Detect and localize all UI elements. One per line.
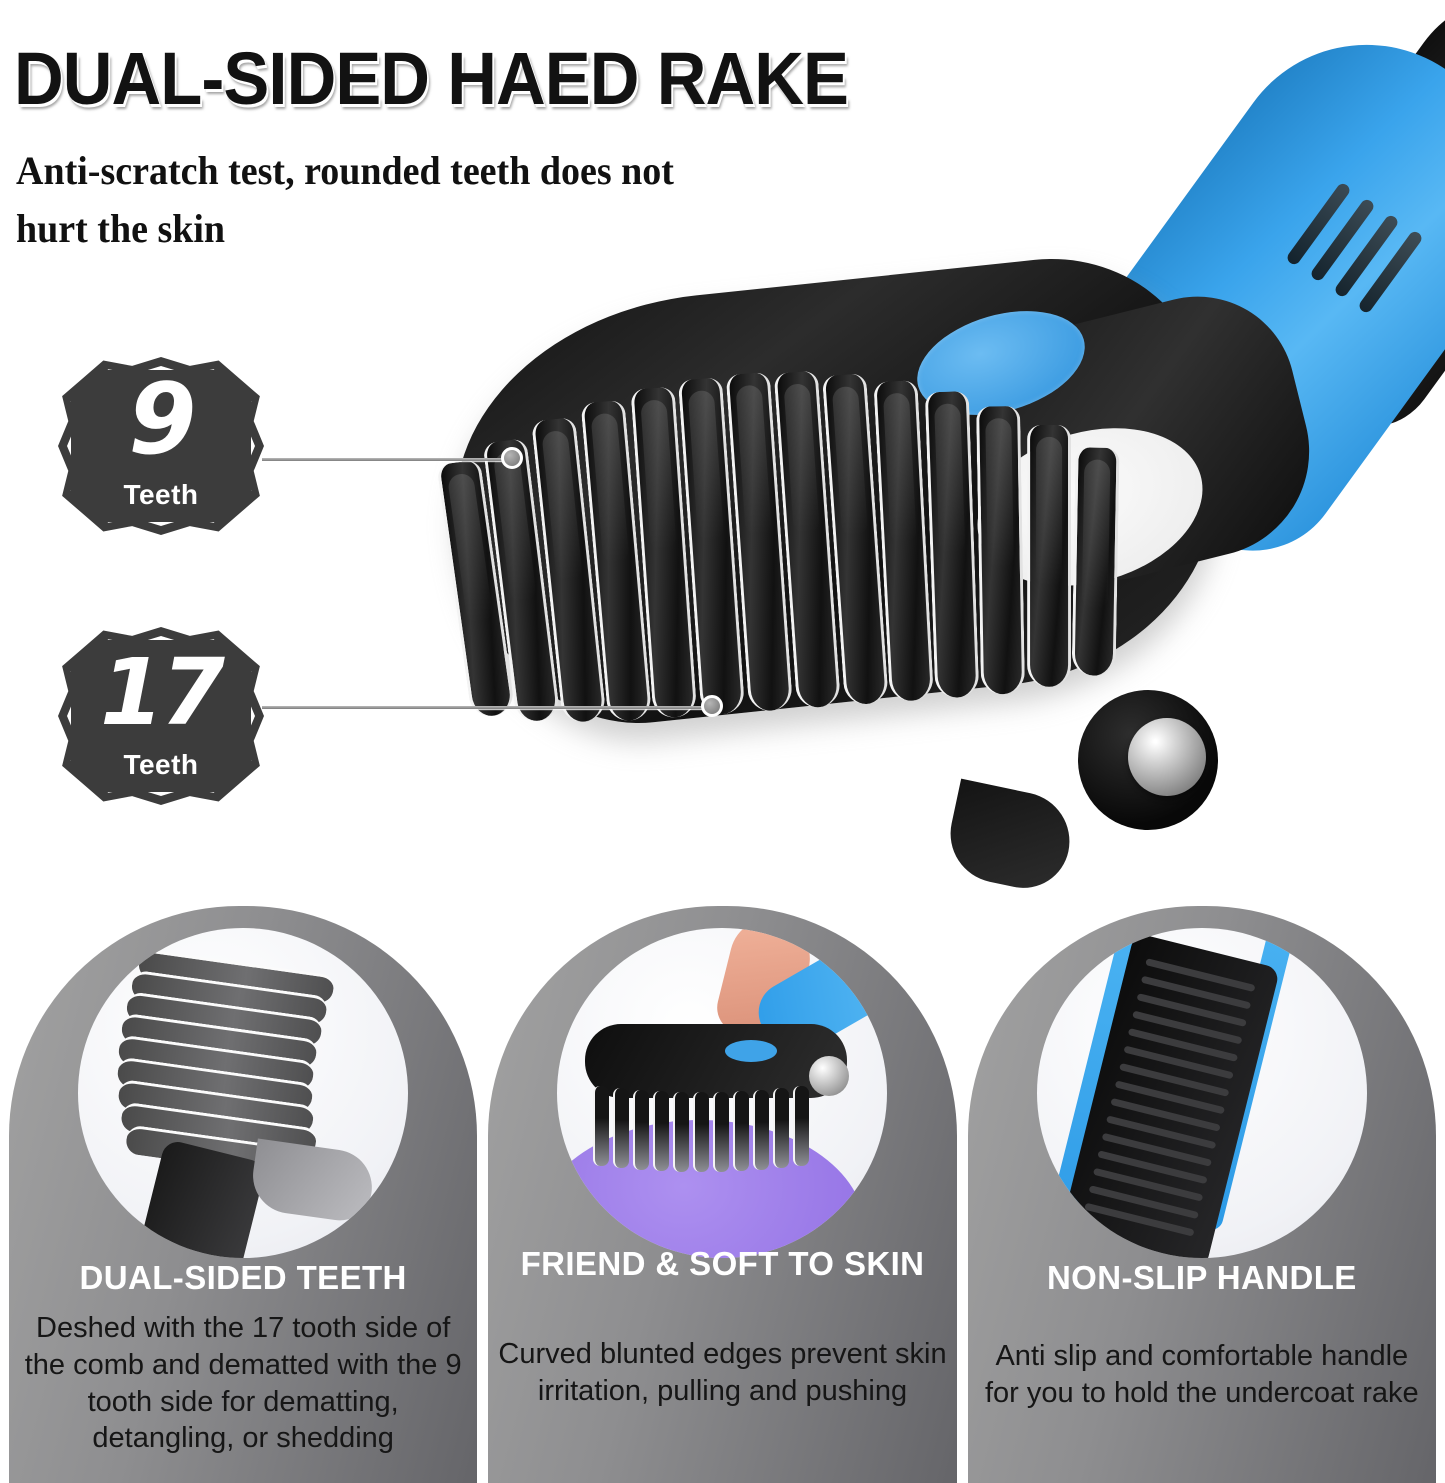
dual-sided-teeth-closeup-photo [78, 928, 408, 1258]
feature-card-title: DUAL-SIDED TEETH [9, 1258, 477, 1298]
rake-teeth-group [428, 317, 1181, 866]
rake-tooth [1027, 425, 1071, 687]
badge-number: 17 [58, 647, 264, 739]
teeth-macro-illustration [93, 941, 392, 1258]
callout-line-9-teeth [262, 456, 512, 462]
rake-screw-icon [809, 1056, 849, 1096]
macro-tooth [773, 1088, 789, 1168]
macro-tooth [593, 1086, 609, 1166]
callout-endpoint-dot [701, 695, 723, 717]
macro-tooth [793, 1086, 809, 1166]
badge-number: 9 [58, 371, 264, 469]
rake-screw-icon [1128, 718, 1206, 796]
feature-card-title: FRIEND & SOFT TO SKIN [488, 1244, 956, 1284]
feature-card-title: NON-SLIP HANDLE [968, 1258, 1436, 1298]
rake-head-illustration [585, 1024, 847, 1098]
rake-tooth [976, 406, 1025, 695]
feature-card-body: Deshed with the 17 tooth side of the com… [19, 1310, 467, 1457]
blue-accent-dot-icon [725, 1040, 777, 1062]
rake-tooth [925, 391, 980, 698]
badge-caption: Teeth [58, 749, 264, 781]
macro-tooth [733, 1091, 749, 1171]
rake-on-balloon-photo [557, 928, 887, 1258]
macro-hook [248, 1139, 377, 1225]
macro-tooth [653, 1091, 669, 1171]
badge-caption: Teeth [58, 479, 264, 511]
callout-line [262, 706, 712, 709]
callout-endpoint-dot [501, 447, 523, 469]
badge-17-teeth: 17 Teeth [58, 627, 264, 805]
macro-tooth [673, 1092, 689, 1172]
callout-line-17-teeth [262, 704, 712, 710]
macro-tooth [693, 1092, 709, 1172]
macro-tooth [633, 1090, 649, 1170]
macro-tooth [613, 1088, 629, 1168]
non-slip-handle-grip-photo [1037, 928, 1367, 1258]
feature-card-friend-soft-to-skin: FRIEND & SOFT TO SKIN Curved blunted edg… [488, 906, 956, 1483]
feature-card-body: Curved blunted edges prevent skin irrita… [498, 1336, 946, 1410]
callout-line [262, 458, 512, 461]
feature-card-dual-sided-teeth: DUAL-SIDED TEETH Deshed with the 17 toot… [9, 906, 477, 1483]
rake-tooth [1072, 447, 1120, 676]
feature-card-non-slip-handle: NON-SLIP HANDLE Anti slip and comfortabl… [968, 906, 1436, 1483]
feature-card-body: Anti slip and comfortable handle for you… [978, 1338, 1426, 1412]
feature-cards-row: DUAL-SIDED TEETH Deshed with the 17 toot… [0, 906, 1445, 1483]
macro-tooth [753, 1090, 769, 1170]
badge-9-teeth: 9 Teeth [58, 357, 264, 535]
macro-tooth [713, 1092, 729, 1172]
